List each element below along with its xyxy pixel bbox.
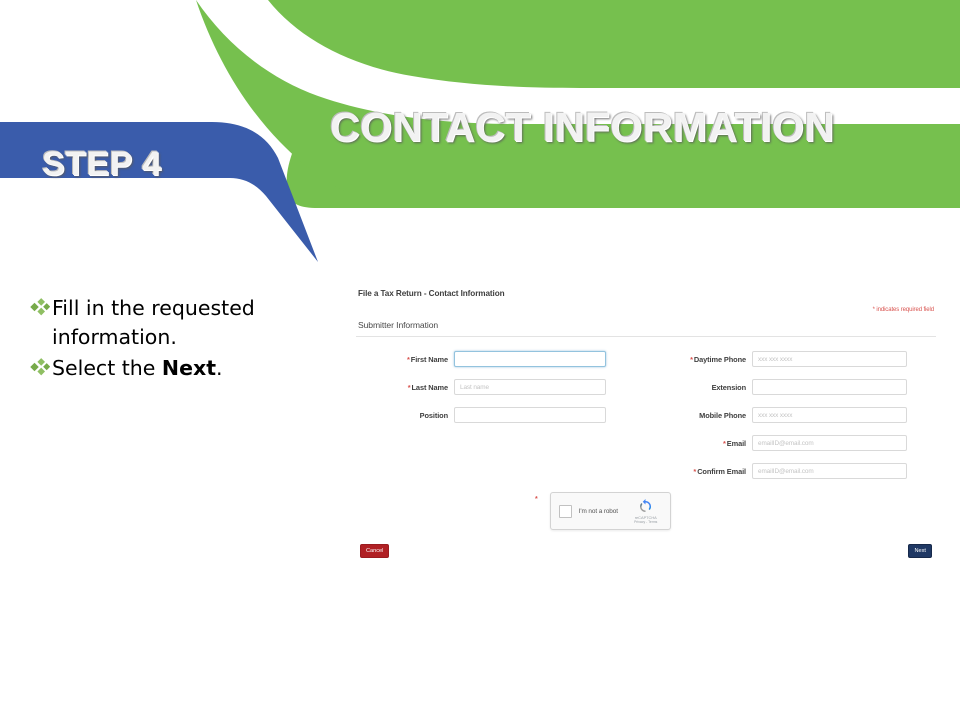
email-label-text: Email [727,439,746,448]
field-row-confirm-email: *Confirm Email [652,462,940,480]
recaptcha-brand-name: reCAPTCHA [630,515,662,520]
recaptcha-logo-icon [638,499,653,514]
field-row-mobile-phone: Mobile Phone [652,406,940,424]
section-title: Submitter Information [358,320,438,330]
list-item: Select the Next. [30,354,350,388]
mobile-phone-label-text: Mobile Phone [699,411,746,420]
list-item-text: Fill in the requested information. [52,296,255,349]
list-item-text: Select the [52,356,162,380]
form-title: File a Tax Return - Contact Information [358,289,505,298]
required-asterisk: * [693,467,696,476]
slide-canvas: CONTACT INFORMATION STEP 4 Fill in the r… [0,0,960,720]
required-asterisk: * [408,383,411,392]
field-row-daytime-phone: *Daytime Phone [652,350,940,368]
position-label: Position [352,411,454,420]
recaptcha-branding: reCAPTCHA Privacy - Terms [630,499,662,524]
daytime-phone-label-text: Daytime Phone [694,355,746,364]
recaptcha-checkbox[interactable] [559,505,572,518]
mobile-phone-input[interactable] [752,407,907,423]
extension-label: Extension [652,383,752,392]
first-name-label-text: First Name [411,355,448,364]
list-item-label: Fill in the requested information. [52,294,350,352]
email-input[interactable] [752,435,907,451]
form-column-right: *Daytime Phone Extension Mobile Phone *E… [652,350,940,490]
field-row-extension: Extension [652,378,940,396]
list-item-text-tail: . [216,356,223,380]
page-title: CONTACT INFORMATION [330,104,834,151]
recaptcha-legal-links[interactable]: Privacy - Terms [630,520,662,524]
last-name-label: *Last Name [352,383,454,392]
field-row-last-name: *Last Name [352,378,632,396]
last-name-input[interactable] [454,379,606,395]
required-asterisk: * [723,439,726,448]
form-column-left: *First Name *Last Name Position [352,350,632,434]
recaptcha-box[interactable]: I'm not a robot reCAPTCHA Privacy - Term… [550,492,671,530]
first-name-label: *First Name [352,355,454,364]
extension-label-text: Extension [712,383,746,392]
last-name-label-text: Last Name [412,383,448,392]
email-label: *Email [652,439,752,448]
recaptcha-widget: * I'm not a robot reCAPTCHA Privacy - Te… [535,492,671,530]
mobile-phone-label: Mobile Phone [652,411,752,420]
section-divider [356,336,936,337]
required-asterisk: * [535,496,538,503]
required-asterisk: * [690,355,693,364]
list-item-label: Select the Next. [52,354,223,383]
field-row-first-name: *First Name [352,350,632,368]
cancel-button[interactable]: Cancel [360,544,389,558]
daytime-phone-label: *Daytime Phone [652,355,752,364]
field-row-email: *Email [652,434,940,452]
step-label: STEP 4 [42,145,162,184]
embedded-form-screenshot: File a Tax Return - Contact Information … [352,280,940,572]
field-row-position: Position [352,406,632,424]
position-label-text: Position [420,411,448,420]
first-name-input[interactable] [454,351,606,367]
green-diamond-bullet-icon [30,358,52,388]
bullet-list: Fill in the requested information. Selec… [30,294,350,390]
confirm-email-input[interactable] [752,463,907,479]
next-button[interactable]: Next [908,544,932,558]
extension-input[interactable] [752,379,907,395]
confirm-email-label-text: Confirm Email [697,467,746,476]
required-field-note: * indicates required field [873,307,934,313]
green-diamond-bullet-icon [30,298,52,328]
daytime-phone-input[interactable] [752,351,907,367]
required-asterisk: * [407,355,410,364]
recaptcha-label: I'm not a robot [579,508,630,515]
list-item: Fill in the requested information. [30,294,350,352]
position-input[interactable] [454,407,606,423]
confirm-email-label: *Confirm Email [652,467,752,476]
list-item-emphasis: Next [162,356,216,380]
blue-step-shape [0,122,318,262]
